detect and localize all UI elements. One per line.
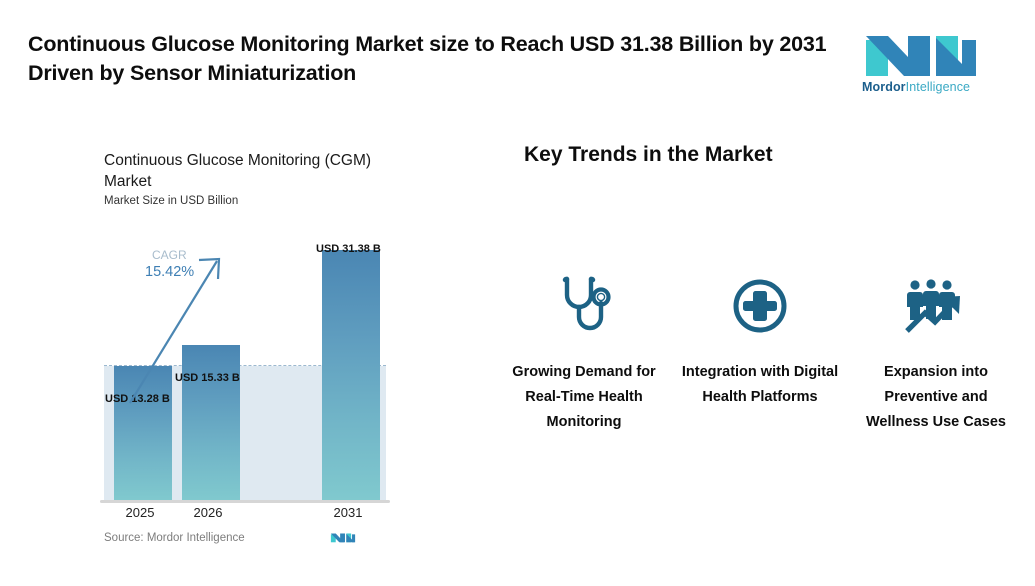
mordor-m-mark-icon [862, 26, 980, 78]
cagr-value: 15.42% [145, 264, 194, 280]
trend-card-preventive-wellness: Expansion into Preventive and Wellness U… [852, 270, 1020, 435]
x-tick-2031: 2031 [319, 505, 377, 520]
logo-word-primary: Mordor [862, 80, 906, 94]
chart-title: Continuous Glucose Monitoring (CGM) Mark… [104, 150, 404, 192]
x-tick-2025: 2025 [111, 505, 169, 520]
logo-wordmark: MordorIntelligence [862, 80, 980, 94]
bar-2026 [182, 345, 240, 500]
logo-word-secondary: Intelligence [906, 80, 970, 94]
trend-label: Expansion into Preventive and Wellness U… [852, 360, 1020, 435]
trend-label: Growing Demand for Real-Time Health Moni… [500, 360, 668, 435]
trend-label: Integration with Digital Health Platform… [676, 360, 844, 410]
cagr-label: CAGR [152, 248, 187, 262]
mordor-intelligence-logo: MordorIntelligence [862, 26, 980, 96]
medical-cross-circle-icon [730, 270, 790, 342]
bar-2025 [114, 366, 172, 500]
stethoscope-icon [555, 270, 613, 342]
bar-value-label-2031: USD 31.38 B [316, 243, 381, 255]
chart-plot-area [104, 245, 386, 500]
chart-subtitle: Market Size in USD Billion [104, 195, 238, 207]
page-title: Continuous Glucose Monitoring Market siz… [28, 30, 828, 88]
source-mordor-m-mark-icon [330, 528, 356, 546]
trends-heading: Key Trends in the Market [524, 143, 773, 167]
trend-card-real-time-monitoring: Growing Demand for Real-Time Health Moni… [500, 270, 668, 435]
trend-card-digital-health-platforms: Integration with Digital Health Platform… [676, 270, 844, 435]
trends-row: Growing Demand for Real-Time Health Moni… [500, 270, 1020, 435]
chart-source: Source: Mordor Intelligence [104, 532, 245, 544]
bar-value-label-2026: USD 15.33 B [175, 372, 240, 384]
market-size-chart: Continuous Glucose Monitoring (CGM) Mark… [0, 140, 470, 570]
people-growth-arrow-icon [902, 270, 970, 342]
x-axis-line [100, 500, 390, 503]
bar-value-label-2025: USD 13.28 B [105, 393, 170, 405]
bar-2031 [322, 250, 380, 500]
x-tick-2026: 2026 [179, 505, 237, 520]
